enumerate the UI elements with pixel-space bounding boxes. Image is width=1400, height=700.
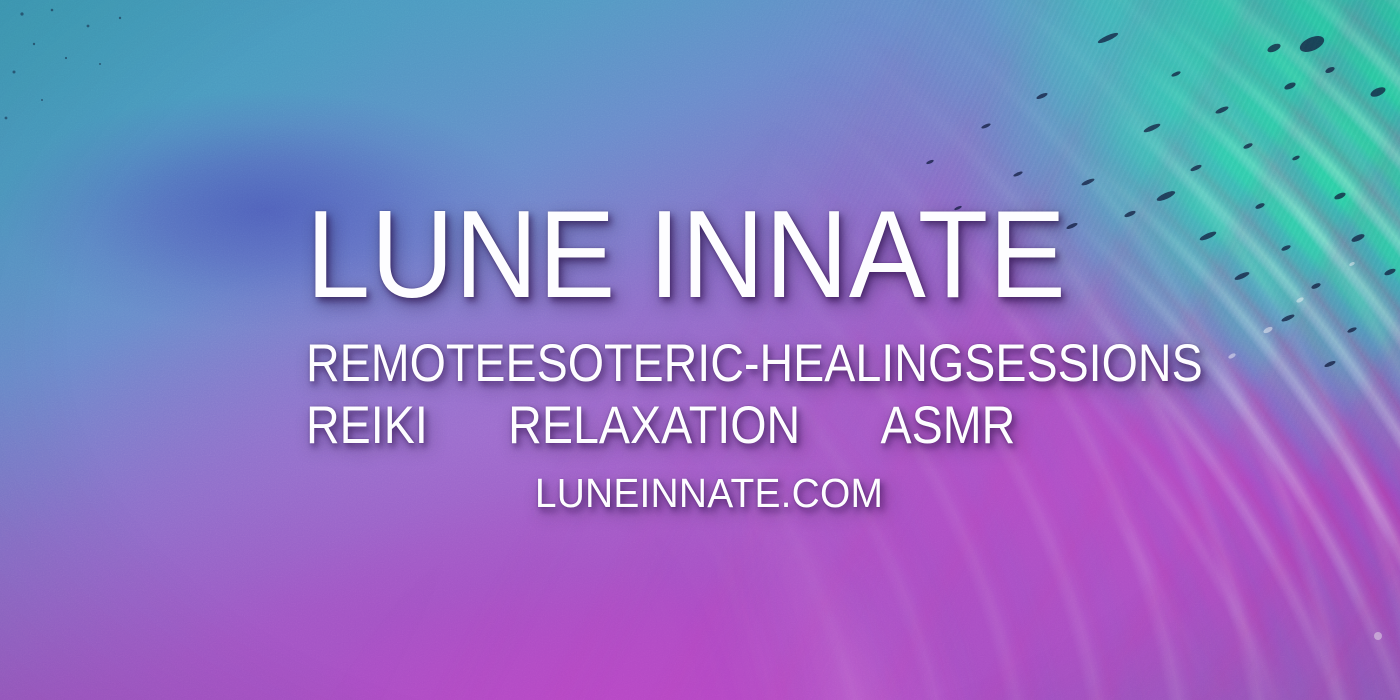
tagline-word-esoteric-healing: ESOTERIC-HEALING <box>506 337 965 390</box>
promo-banner: LUNE INNATE REMOTE ESOTERIC-HEALING SESS… <box>0 0 1400 700</box>
tagline: REMOTE ESOTERIC-HEALING SESSIONS <box>306 337 1015 390</box>
service-asmr: ASMR <box>881 399 1016 452</box>
service-reiki: REIKI <box>306 399 428 452</box>
headline-block: LUNE INNATE REMOTE ESOTERIC-HEALING SESS… <box>306 196 1112 514</box>
tagline-word-remote: REMOTE <box>306 337 506 390</box>
services-list: REIKI RELAXATION ASMR <box>306 399 1015 452</box>
tagline-word-sessions: SESSIONS <box>964 337 1202 390</box>
service-relaxation: RELAXATION <box>508 399 800 452</box>
website-url[interactable]: LUNEINNATE.COM <box>326 473 1092 514</box>
page-title: LUNE INNATE <box>306 196 1056 315</box>
